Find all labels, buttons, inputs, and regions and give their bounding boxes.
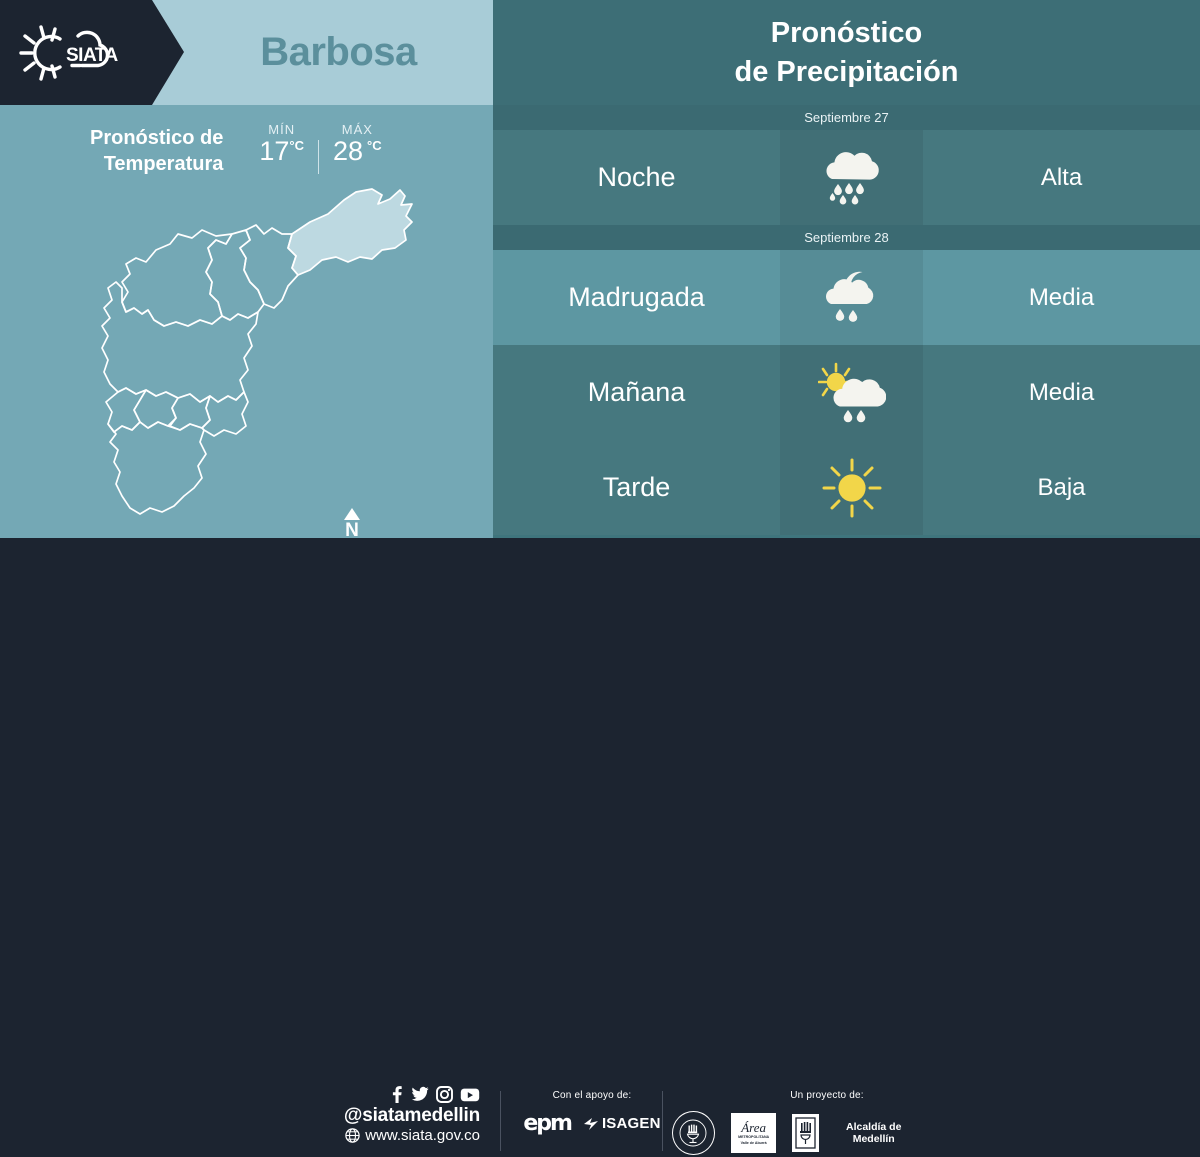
social-block: @siatamedellin www.siata.gov.co xyxy=(330,1086,480,1145)
max-unit: °C xyxy=(367,138,382,153)
date-bar-2: Septiembre 28 xyxy=(493,225,1200,250)
project-block: Un proyecto de: Área METROPOLITANA V xyxy=(672,1090,922,1155)
city-title: Barbosa xyxy=(184,0,493,105)
probability-label: Baja xyxy=(923,474,1200,502)
map-region-caldas xyxy=(108,422,206,514)
map-region-la-estrella xyxy=(106,388,146,432)
min-unit: °C xyxy=(289,138,304,153)
siata-logo-badge: SIATA xyxy=(0,0,184,105)
left-panel: SIATA Barbosa Pronóstico de Temperatura … xyxy=(0,0,493,538)
social-handle[interactable]: @siatamedellin xyxy=(330,1105,480,1127)
precipitation-title-line1: Pronóstico xyxy=(771,14,922,53)
map-region-barbosa xyxy=(288,189,412,275)
rain-cloud-heavy-icon xyxy=(780,130,923,225)
globe-icon xyxy=(345,1128,360,1143)
support-caption: Con el apoyo de: xyxy=(512,1090,672,1101)
isagen-mark-icon xyxy=(583,1117,599,1131)
period-label: Madrugada xyxy=(493,282,780,313)
max-value-wrap: 28°C xyxy=(333,138,382,165)
date-bar-1: Septiembre 27 xyxy=(493,105,1200,130)
min-value-wrap: 17°C xyxy=(259,138,304,165)
temperature-values: MÍN 17°C MÁX 28°C xyxy=(245,122,395,174)
alcaldia-mark-icon xyxy=(792,1114,819,1152)
north-arrow-icon xyxy=(344,508,360,520)
sun-icon xyxy=(780,440,923,535)
precipitation-title: Pronóstico de Precipitación xyxy=(493,0,1200,105)
social-icons xyxy=(330,1086,480,1103)
project-caption: Un proyecto de: xyxy=(732,1090,922,1101)
right-panel: Pronóstico de Precipitación Septiembre 2… xyxy=(493,0,1200,538)
isagen-logo: ISAGEN xyxy=(583,1115,661,1132)
instagram-icon[interactable] xyxy=(436,1086,453,1103)
amva-subtitle-2: Valle de Aburrá xyxy=(741,1141,767,1145)
temperature-title-line1: Pronóstico de xyxy=(90,126,223,152)
amva-script: Área xyxy=(741,1121,766,1134)
temperature-block: Pronóstico de Temperatura MÍN 17°C MÁX 2… xyxy=(90,122,396,177)
alcaldia-logo: Alcaldía de Medellín xyxy=(792,1114,922,1152)
aburra-valley-map: N xyxy=(60,178,460,530)
sun-cloud-rain-icon xyxy=(780,345,923,440)
precipitation-title-line2: de Precipitación xyxy=(734,53,958,92)
compass-north: N xyxy=(337,508,367,540)
temperature-title-line2: Temperatura xyxy=(90,152,223,178)
period-label: Mañana xyxy=(493,377,780,408)
forecast-row-tarde: Tarde Baja xyxy=(493,440,1200,535)
twitter-icon[interactable] xyxy=(411,1086,429,1103)
epm-logo: epm xyxy=(523,1111,571,1136)
moon-cloud-rain-icon xyxy=(780,250,923,345)
amva-subtitle-1: METROPOLITANA xyxy=(738,1135,769,1139)
footer-divider-2 xyxy=(662,1091,663,1151)
forecast-row-noche: Noche Alta xyxy=(493,130,1200,225)
project-logos: Área METROPOLITANA Valle de Aburrá xyxy=(672,1111,922,1155)
max-value: 28 xyxy=(333,136,363,166)
youtube-icon[interactable] xyxy=(460,1086,480,1103)
footer: @siatamedellin www.siata.gov.co Con el a… xyxy=(0,538,1200,630)
map-region-envigado xyxy=(202,392,248,436)
area-metropolitana-logo: Área METROPOLITANA Valle de Aburrá xyxy=(731,1113,777,1153)
temperature-min: MÍN 17°C xyxy=(245,122,318,165)
forecast-row-manana: Mañana xyxy=(493,345,1200,440)
probability-label: Alta xyxy=(923,164,1200,192)
isagen-wordmark: ISAGEN xyxy=(602,1115,661,1132)
period-label: Noche xyxy=(493,162,780,193)
temperature-title: Pronóstico de Temperatura xyxy=(90,122,223,177)
date-label: Septiembre 28 xyxy=(804,230,889,245)
probability-label: Media xyxy=(923,284,1200,312)
map-svg xyxy=(60,178,460,530)
facebook-icon[interactable] xyxy=(389,1086,404,1103)
period-label: Tarde xyxy=(493,472,780,503)
udea-seal-icon xyxy=(672,1111,715,1155)
alcaldia-label: Alcaldía de Medellín xyxy=(825,1121,922,1145)
support-block: Con el apoyo de: epm ISAGEN xyxy=(512,1090,672,1136)
support-logos: epm ISAGEN xyxy=(512,1111,672,1136)
temperature-max: MÁX 28°C xyxy=(319,122,396,165)
website-url: www.siata.gov.co xyxy=(365,1127,480,1145)
map-region-copacabana xyxy=(206,230,264,320)
min-label: MÍN xyxy=(268,122,295,137)
siata-wordmark: SIATA xyxy=(66,45,118,66)
max-label: MÁX xyxy=(342,122,373,137)
min-value: 17 xyxy=(259,136,289,166)
website-line[interactable]: www.siata.gov.co xyxy=(330,1127,480,1145)
sun-cloud-icon: SIATA xyxy=(14,22,134,84)
footer-divider-1 xyxy=(500,1091,501,1151)
date-label: Septiembre 27 xyxy=(804,110,889,125)
probability-label: Media xyxy=(923,379,1200,407)
map-region-medellin xyxy=(102,282,258,402)
forecast-row-madrugada: Madrugada Media xyxy=(493,250,1200,345)
infographic-canvas: SIATA Barbosa Pronóstico de Temperatura … xyxy=(0,0,1200,630)
left-header: SIATA Barbosa xyxy=(0,0,493,105)
